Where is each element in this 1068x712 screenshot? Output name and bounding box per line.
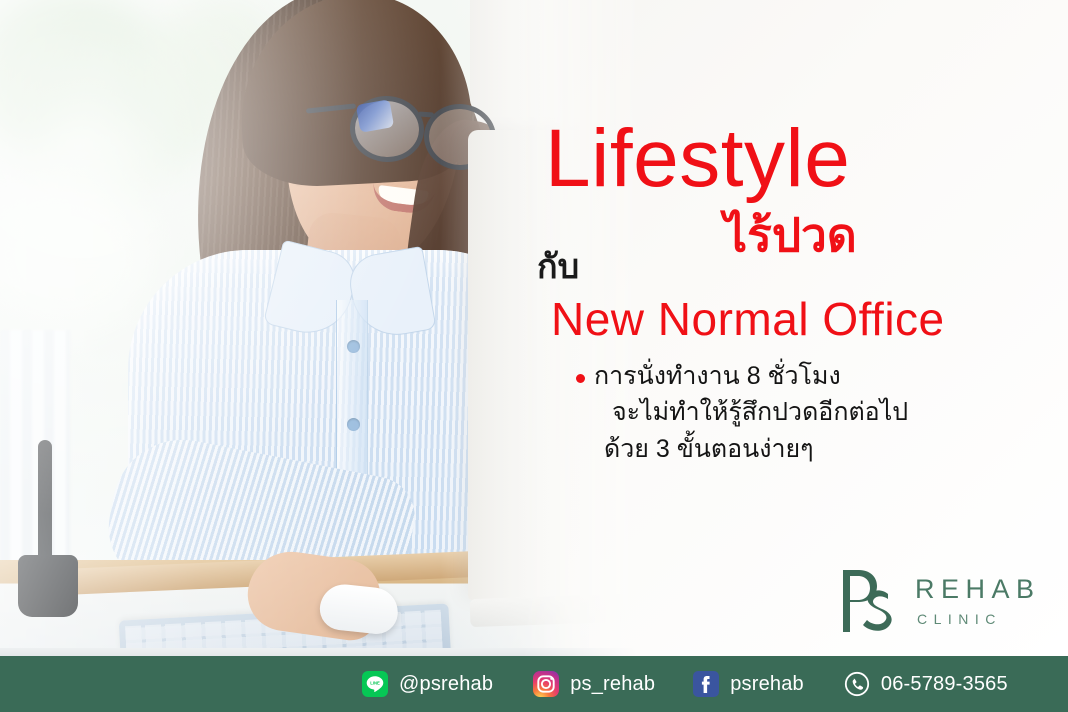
poster-canvas: Lifestyle ไร้ปวด กับ New Normal Office ก… <box>0 0 1068 712</box>
contact-footer-bar: LINE @psrehab p <box>0 656 1068 712</box>
contact-handle: 06-5789-3565 <box>881 673 1008 696</box>
subtitle-thai-accent: ไร้ปวด <box>724 212 857 258</box>
contact-handle: ps_rehab <box>570 673 655 696</box>
list-item: การนั่งทำงาน 8 ชั่วโมง จะไม่ทำให้รู้สึกป… <box>576 358 996 467</box>
bullet-line-1: การนั่งทำงาน 8 ชั่วโมง <box>594 358 908 394</box>
contact-instagram[interactable]: ps_rehab <box>533 671 655 697</box>
subtitle-english: New Normal Office <box>551 296 945 342</box>
svg-text:LINE: LINE <box>370 680 380 685</box>
contact-line[interactable]: LINE @psrehab <box>362 671 493 697</box>
logo-wordmark: REHAB CLINIC <box>915 576 1041 626</box>
bullet-list: การนั่งทำงาน 8 ชั่วโมง จะไม่ทำให้รู้สึกป… <box>576 358 996 467</box>
connector-word: กับ <box>537 250 579 284</box>
brand-logo: REHAB CLINIC <box>833 564 1041 638</box>
instagram-icon <box>533 671 559 697</box>
facebook-icon <box>693 671 719 697</box>
ps-monogram-icon <box>833 564 899 638</box>
page-title: Lifestyle <box>545 118 850 200</box>
contact-facebook[interactable]: psrehab <box>693 671 804 697</box>
contact-handle: psrehab <box>730 673 804 696</box>
logo-name: REHAB <box>915 576 1041 603</box>
line-icon: LINE <box>362 671 388 697</box>
bullet-dot-icon <box>576 374 585 383</box>
bullet-text: การนั่งทำงาน 8 ชั่วโมง จะไม่ทำให้รู้สึกป… <box>594 358 908 467</box>
contact-handle: @psrehab <box>399 673 493 696</box>
bullet-line-3: ด้วย 3 ขั้นตอนง่ายๆ <box>594 431 908 467</box>
bullet-line-2: จะไม่ทำให้รู้สึกปวดอีกต่อไป <box>594 394 908 430</box>
phone-icon <box>844 671 870 697</box>
logo-tagline: CLINIC <box>917 612 1041 626</box>
contact-phone[interactable]: 06-5789-3565 <box>844 671 1008 697</box>
